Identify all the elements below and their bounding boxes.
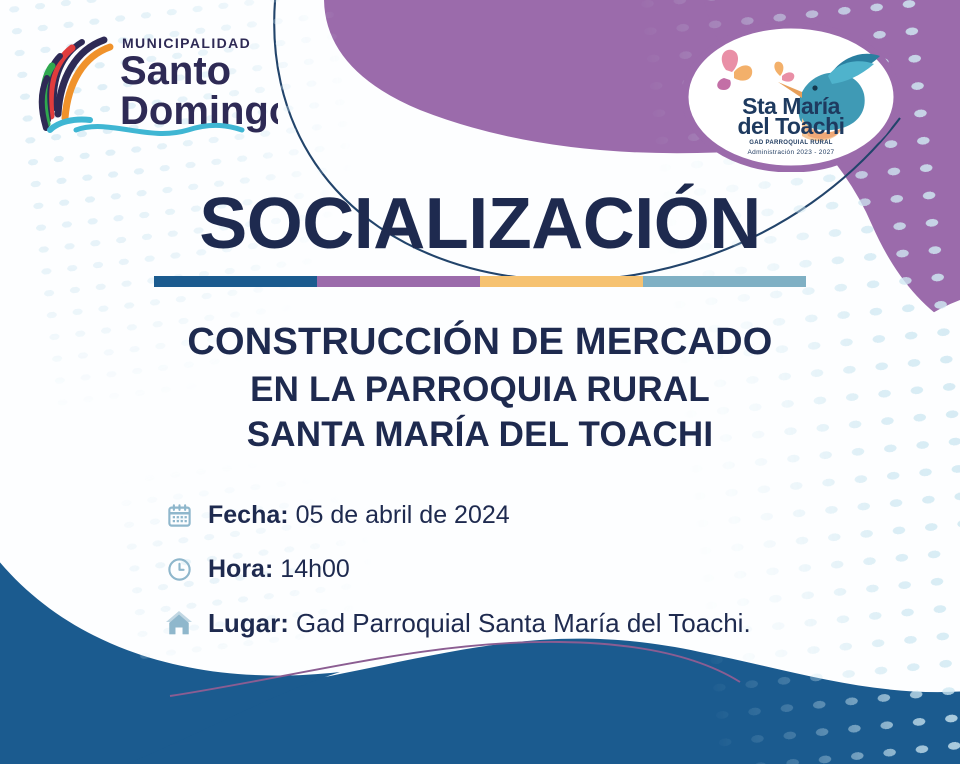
detail-value-fecha: 05 de abril de 2024 xyxy=(296,501,510,530)
detail-row-hora: Hora: 14h00 xyxy=(162,552,862,586)
detail-value-hora: 14h00 xyxy=(280,555,350,584)
color-segment-1 xyxy=(154,276,317,287)
subtitle-line-1: CONSTRUCCIÓN DE MERCADO xyxy=(0,320,960,365)
detail-value-lugar: Gad Parroquial Santa María del Toachi. xyxy=(296,608,751,639)
parish-line2: del Toachi xyxy=(737,113,844,139)
detail-label-fecha: Fecha: xyxy=(208,501,289,530)
subtitle-line-2: EN LA PARROQUIA RURAL xyxy=(0,369,960,410)
event-details: Fecha: 05 de abril de 2024 Hora: 14h00 L… xyxy=(162,498,862,660)
detail-label-lugar: Lugar: xyxy=(208,608,289,639)
title-block: SOCIALIZACIÓN xyxy=(0,188,960,287)
detail-label-hora: Hora: xyxy=(208,555,273,584)
detail-row-lugar: Lugar: Gad Parroquial Santa María del To… xyxy=(162,606,862,640)
detail-row-fecha: Fecha: 05 de abril de 2024 xyxy=(162,498,862,532)
subtitle-line-3: SANTA MARÍA DEL TOACHI xyxy=(0,414,960,455)
subtitle-block: CONSTRUCCIÓN DE MERCADO EN LA PARROQUIA … xyxy=(0,320,960,455)
color-segment-2 xyxy=(317,276,480,287)
poster-canvas: MUNICIPALIDAD Santo Domingo xyxy=(0,0,960,764)
page-title: SOCIALIZACIÓN xyxy=(0,188,960,260)
municipality-logo: MUNICIPALIDAD Santo Domingo xyxy=(38,30,278,138)
color-segment-3 xyxy=(480,276,643,287)
parish-sub1: GAD PARROQUIAL RURAL xyxy=(749,140,832,146)
color-divider-bar xyxy=(154,276,806,287)
calendar-icon xyxy=(162,498,196,532)
parish-sub2: Administración 2023 - 2027 xyxy=(748,149,835,156)
parish-logo: Sta María del Toachi GAD PARROQUIAL RURA… xyxy=(682,22,900,172)
municipality-line1: Santo xyxy=(120,49,231,93)
color-segment-4 xyxy=(643,276,806,287)
logo-fan-icon xyxy=(42,40,110,130)
home-icon xyxy=(162,606,196,640)
clock-icon xyxy=(162,552,196,586)
